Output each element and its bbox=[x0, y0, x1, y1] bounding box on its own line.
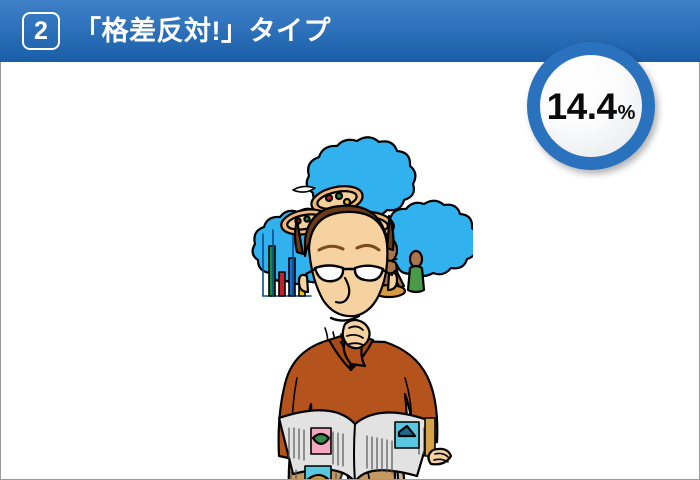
percentage-badge: 14.4 % bbox=[527, 42, 655, 170]
header-content: 2 「格差反対!」タイプ bbox=[22, 0, 331, 62]
section-number: 2 bbox=[34, 19, 48, 44]
percentage-unit: % bbox=[618, 103, 636, 123]
slide-container: 2 「格差反対!」タイプ bbox=[0, 0, 700, 480]
percentage-value: 14.4 bbox=[547, 88, 617, 125]
newspaper bbox=[279, 410, 451, 480]
percentage-text: 14.4 % bbox=[547, 88, 636, 125]
percentage-badge-inner: 14.4 % bbox=[540, 55, 642, 157]
illustration-thinking-man bbox=[233, 128, 473, 480]
page-title: 「格差反対!」タイプ bbox=[74, 18, 331, 45]
section-number-badge: 2 bbox=[22, 12, 60, 50]
